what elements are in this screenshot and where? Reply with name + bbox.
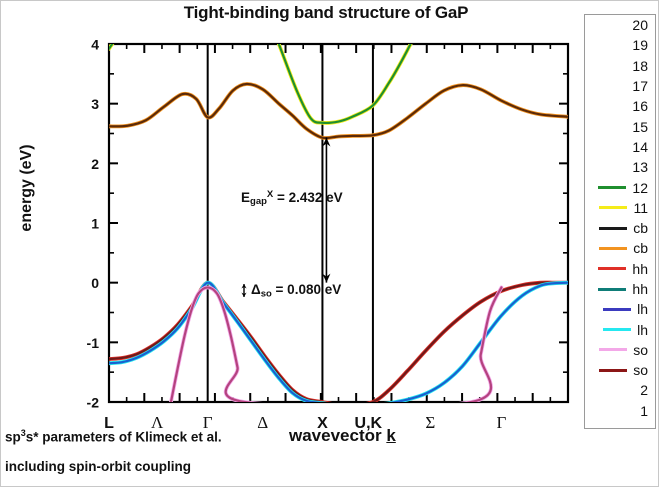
annotation-band-gap: EgapX = 2.432 eV: [241, 189, 343, 207]
legend-item: 14: [585, 137, 655, 157]
legend-item-label: 12: [632, 180, 648, 196]
legend-item: 19: [585, 35, 655, 55]
legend-item: hh: [585, 259, 655, 279]
band-curve-so-halo: [171, 287, 501, 407]
legend-item-label: so: [633, 362, 648, 378]
legend-color-swatch: [598, 166, 626, 169]
band-curve-cb-halo: [109, 84, 568, 138]
legend-item-label: lh: [637, 301, 648, 317]
legend-item: cb: [585, 238, 655, 258]
legend-item-label: 14: [632, 139, 648, 155]
legend-item: 2: [585, 380, 655, 400]
legend-item: 1: [585, 401, 655, 421]
legend-item-label: 1: [640, 403, 648, 419]
legend-item: 12: [585, 177, 655, 197]
annotation-spin-orbit-splitting: Δso = 0.080 eV: [251, 282, 341, 299]
legend-color-swatch: [598, 267, 626, 270]
legend-color-swatch: [598, 105, 626, 108]
legend-color-swatch: [603, 328, 631, 331]
band-structure-figure: Tight-binding band structure of GaP ener…: [1, 1, 659, 488]
legend-item: 18: [585, 56, 655, 76]
legend-color-swatch: [606, 409, 634, 412]
legend-color-swatch: [598, 288, 626, 291]
legend-item-label: 13: [632, 159, 648, 175]
legend-item: 16: [585, 96, 655, 116]
legend-item: so: [585, 340, 655, 360]
legend-item-label: hh: [632, 261, 648, 277]
legend-item-label: 11: [633, 200, 648, 216]
legend-color-swatch: [598, 44, 626, 47]
legend-item-label: 2: [640, 382, 648, 398]
y-tick-label: -2: [87, 395, 100, 411]
caption-line-1: sp3s* parameters of Klimeck et al.: [5, 428, 222, 445]
y-tick-label: 1: [91, 216, 99, 232]
legend-color-swatch: [599, 369, 627, 372]
legend-item-label: hh: [632, 281, 648, 297]
k-point-label: Σ: [425, 413, 435, 432]
legend-color-swatch: [598, 125, 626, 128]
legend-color-swatch: [606, 389, 634, 392]
legend-item: 17: [585, 76, 655, 96]
k-point-label: Γ: [497, 413, 507, 432]
legend-item: cb: [585, 218, 655, 238]
band-curve-hh: [109, 282, 568, 405]
x-axis-label: wavevector k: [289, 426, 396, 446]
y-tick-label: 4: [91, 37, 99, 53]
legend-color-swatch: [598, 24, 626, 27]
legend-item-label: 19: [632, 37, 648, 53]
legend-item: lh: [585, 319, 655, 339]
legend-item-label: lh: [637, 322, 648, 338]
band-curve-hh-halo: [109, 282, 568, 405]
k-point-label: Δ: [257, 413, 268, 432]
plot-canvas: 43210-1-2LΛΓΔXU,KΣΓ: [1, 1, 659, 488]
y-tick-label: 0: [91, 275, 99, 291]
legend-item: 15: [585, 116, 655, 136]
band-curve-lh-halo: [109, 283, 568, 407]
legend-item-label: 18: [632, 58, 648, 74]
legend-item: 13: [585, 157, 655, 177]
band-curve-lh: [109, 283, 568, 407]
legend-color-swatch: [599, 227, 627, 230]
y-tick-label: 2: [91, 156, 99, 172]
legend-color-swatch: [598, 64, 626, 67]
legend-panel: 20191817161514131211cbcbhhhhlhlhsoso21: [584, 14, 656, 429]
legend-item: 20: [585, 15, 655, 35]
band-gap-arrow: [322, 138, 330, 283]
legend-color-swatch: [598, 145, 626, 148]
legend-color-swatch: [603, 308, 631, 311]
legend-color-swatch: [599, 247, 627, 250]
legend-item-label: cb: [633, 240, 648, 256]
band-curve-cb2: [109, 1, 430, 123]
legend-item-label: 17: [632, 78, 648, 94]
spin-orbit-arrow: [241, 284, 246, 297]
legend-item: hh: [585, 279, 655, 299]
band-curve-cb2-halo: [109, 1, 430, 123]
band-curve-cb: [109, 84, 568, 138]
legend-color-swatch: [598, 186, 626, 189]
legend-color-swatch: [598, 85, 626, 88]
legend-item: lh: [585, 299, 655, 319]
caption-line-2: including spin-orbit coupling: [5, 459, 191, 474]
y-tick-label: -1: [87, 335, 100, 351]
y-tick-label: 3: [91, 96, 99, 112]
legend-item-label: 16: [632, 98, 648, 114]
legend-color-swatch: [599, 206, 627, 209]
legend-item-label: 20: [632, 17, 648, 33]
legend-item-label: so: [633, 342, 648, 358]
legend-item: so: [585, 360, 655, 380]
legend-item: 11: [585, 198, 655, 218]
legend-color-swatch: [599, 348, 627, 351]
legend-item-label: 15: [632, 119, 648, 135]
legend-item-label: cb: [633, 220, 648, 236]
